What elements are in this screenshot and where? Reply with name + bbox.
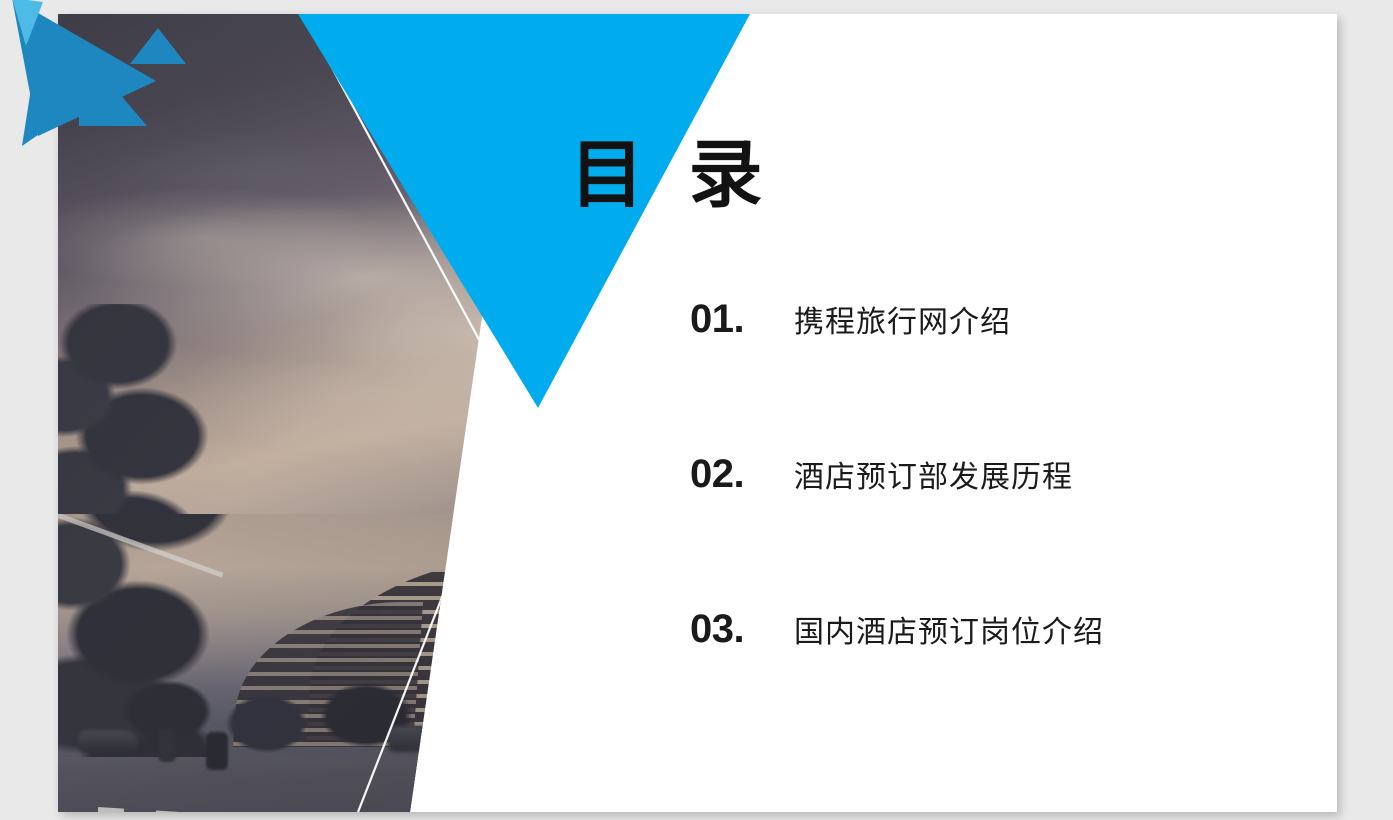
toc-item-02[interactable]: 02. 酒店预订部发展历程 (690, 452, 1290, 607)
toc-item-01[interactable]: 01. 携程旅行网介绍 (690, 297, 1290, 452)
slide-content-area: 目 录 01. 携程旅行网介绍 02. 酒店预订部发展历程 03. 国内酒店预订… (58, 14, 1337, 812)
toc-number: 01. (690, 297, 774, 342)
toc-label: 国内酒店预订岗位介绍 (794, 607, 1104, 651)
table-of-contents: 01. 携程旅行网介绍 02. 酒店预订部发展历程 03. 国内酒店预订岗位介绍 (690, 297, 1290, 762)
page-title: 目 录 (570, 136, 775, 214)
toc-label: 酒店预订部发展历程 (794, 452, 1073, 496)
toc-label: 携程旅行网介绍 (794, 297, 1011, 341)
toc-number: 02. (690, 452, 774, 497)
photo-car-foreground (528, 722, 678, 764)
toc-item-03[interactable]: 03. 国内酒店预订岗位介绍 (690, 607, 1290, 762)
photo-car (488, 722, 554, 746)
slide-canvas: 目 录 01. 携程旅行网介绍 02. 酒店预订部发展历程 03. 国内酒店预订… (0, 0, 1393, 820)
small-right-triangle-icon (22, 82, 58, 146)
toc-number: 03. (690, 607, 774, 652)
presentation-slide: 目 录 01. 携程旅行网介绍 02. 酒店预订部发展历程 03. 国内酒店预订… (58, 14, 1337, 812)
large-arrow-triangle-tip-icon (12, 0, 43, 46)
